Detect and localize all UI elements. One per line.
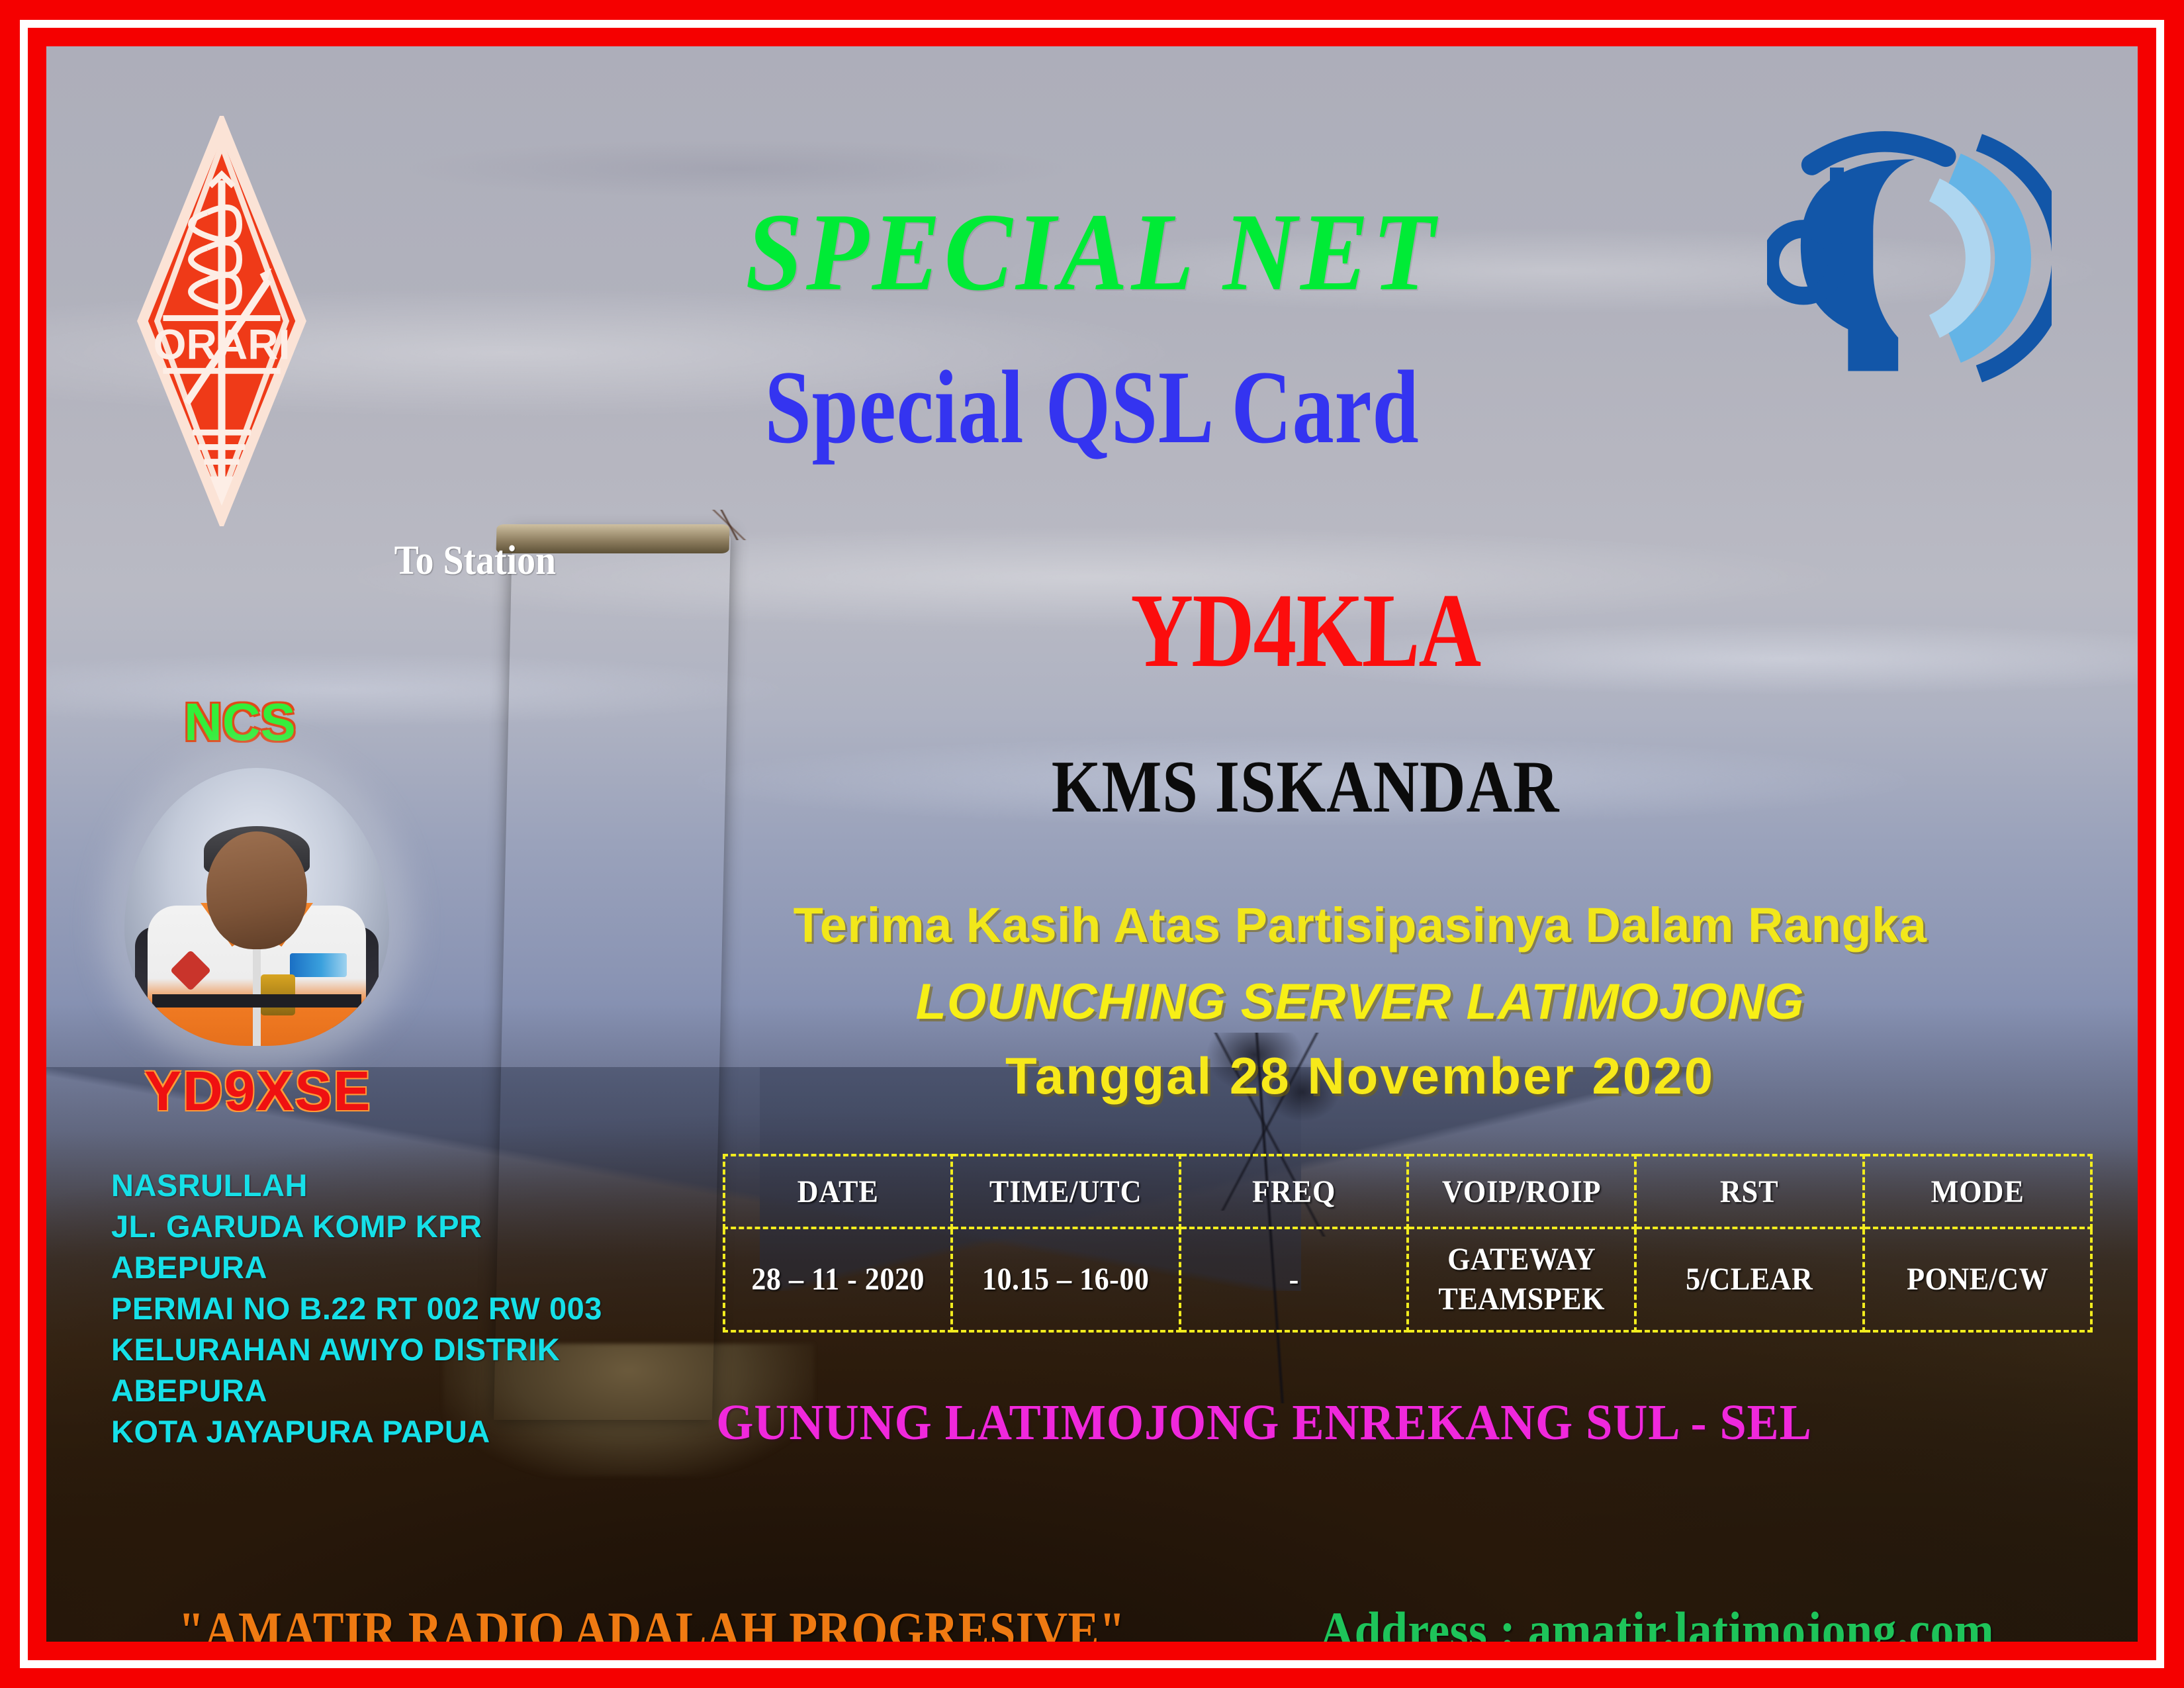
cell-freq: - (1189, 1228, 1398, 1331)
ncs-callsign: YD9XSE (144, 1059, 372, 1123)
address-line: KELURAHAN AWIYO DISTRIK (111, 1329, 660, 1370)
ncs-operator-photo (124, 768, 389, 1046)
station-operator-name: KMS ISKANDAR (931, 745, 1680, 830)
cell-time: 10.15 – 16-00 (961, 1228, 1171, 1331)
cell-mode: PONE/CW (1872, 1228, 2082, 1331)
column-header-voip-roip: VOIP/ROIP (1417, 1155, 1627, 1228)
address-line: NASRULLAH (111, 1165, 660, 1206)
address-line: JL. GARUDA KOMP KPR (111, 1206, 660, 1247)
thanks-line: Terima Kasih Atas Partisipasinya Dalam R… (768, 897, 1952, 953)
web-address: Address : amatir.latimojong.com (1320, 1601, 1994, 1642)
event-place-line: GUNUNG LATIMOJONG ENREKANG SUL - SEL (711, 1394, 1817, 1452)
column-header-date: DATE (733, 1155, 943, 1228)
to-station-label: To Station (394, 538, 556, 585)
cell-voip-roip: GATEWAY TEAMSPEK (1417, 1228, 1627, 1331)
station-callsign: YD4KLA (948, 569, 1663, 692)
ncs-address-block: NASRULLAH JL. GARUDA KOMP KPR ABEPURA PE… (111, 1165, 660, 1452)
column-header-time: TIME/UTC (961, 1155, 1171, 1228)
address-line: ABEPURA (111, 1370, 660, 1411)
cell-rst: 5/CLEAR (1645, 1228, 1854, 1331)
event-line: LOUNCHING SERVER LATIMOJONG (768, 973, 1952, 1031)
photo-uniform-patch-right (290, 953, 347, 977)
qsl-card-inner-frame: ORARI (28, 28, 2156, 1660)
table-header-row: DATE TIME/UTC FREQ VOIP/ROIP RST MODE (724, 1155, 2091, 1228)
photo-uniform-belt (152, 994, 361, 1008)
qso-log-table: DATE TIME/UTC FREQ VOIP/ROIP RST MODE 28… (723, 1154, 2093, 1333)
page-subtitle: Special QSL Card (255, 348, 1929, 468)
page-title: SPECIAL NET (130, 189, 2054, 316)
qsl-card-white-gap: ORARI (20, 20, 2164, 1668)
column-header-mode: MODE (1872, 1155, 2082, 1228)
address-line: PERMAI NO B.22 RT 002 RW 003 (111, 1288, 660, 1329)
ncs-label: NCS (184, 692, 296, 753)
address-line: KOTA JAYAPURA PAPUA (111, 1411, 660, 1452)
table-row: 28 – 11 - 2020 10.15 – 16-00 - GATEWAY T… (724, 1228, 2091, 1331)
cell-date: 28 – 11 - 2020 (733, 1228, 943, 1331)
address-line: ABEPURA (111, 1247, 660, 1288)
qsl-card-outer-frame: ORARI (0, 0, 2184, 1688)
qsl-card-photo-background: ORARI (46, 46, 2138, 1642)
column-header-rst: RST (1645, 1155, 1854, 1228)
club-motto: "AMATIR RADIO ADALAH PROGRESIVE" (178, 1601, 1125, 1642)
event-date-line: Tanggal 28 November 2020 (768, 1046, 1952, 1106)
column-header-freq: FREQ (1189, 1155, 1398, 1228)
qsl-content-layer: ORARI (46, 46, 2138, 1642)
photo-face (206, 831, 307, 949)
